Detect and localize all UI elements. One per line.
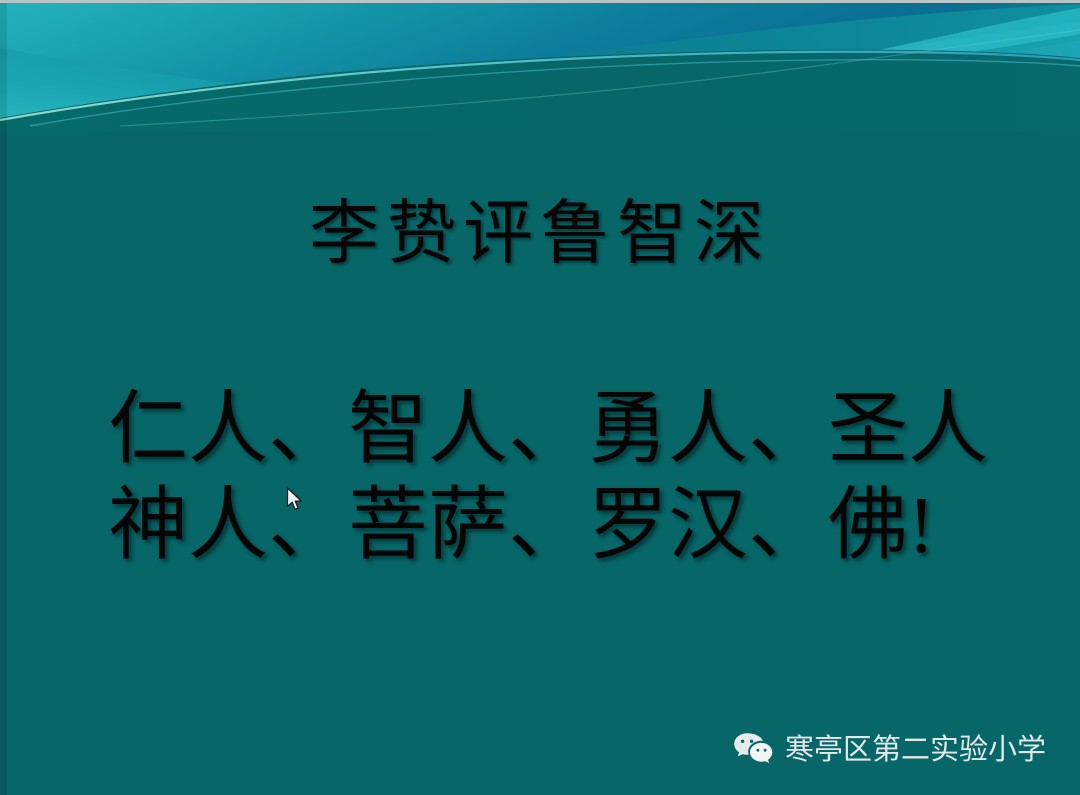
body-line-1: 仁人、智人、勇人、圣人 (108, 382, 1008, 478)
watermark: 寒亭区第二实验小学 (733, 731, 1046, 767)
watermark-label: 寒亭区第二实验小学 (785, 732, 1046, 766)
body-line-2: 神人、菩萨、罗汉、佛! (108, 478, 1008, 574)
decorative-wave-banner (0, 0, 1080, 132)
wechat-icon (733, 731, 775, 767)
left-edge-shading (0, 0, 7, 795)
slide-title: 李贽评鲁智深 (0, 192, 1080, 278)
wave-banner-graphic (0, 0, 1080, 132)
top-edge-hairline (0, 0, 1080, 3)
presentation-slide: 李贽评鲁智深 仁人、智人、勇人、圣人 神人、菩萨、罗汉、佛! 寒亭区第二实验小学 (0, 0, 1080, 795)
wechat-icon-graphic (733, 731, 775, 767)
slide-body-text: 仁人、智人、勇人、圣人 神人、菩萨、罗汉、佛! (108, 382, 1008, 574)
